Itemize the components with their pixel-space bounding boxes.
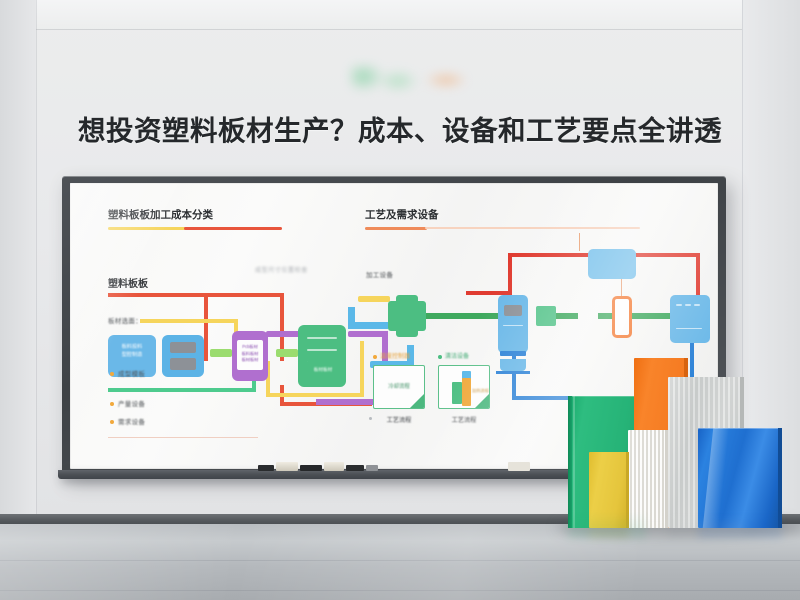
bullet-dot-icon: [110, 420, 114, 424]
chip-lower: [170, 358, 196, 370]
right-heading-bar-orange: [365, 227, 427, 230]
card-1-caption-dot-icon: [369, 417, 372, 420]
reflection-yellow: [589, 518, 629, 538]
eraser-2: [324, 462, 344, 471]
connector-red-bridge: [204, 293, 284, 297]
connector-green-h-1: [425, 313, 509, 319]
bullet-label: 产量设备: [118, 398, 145, 408]
eraser-1: [276, 462, 298, 471]
node-purple-panel: Pcb板材板料板材板材板材: [232, 331, 268, 381]
panel-tick-2: [685, 304, 691, 306]
purple-inner-panel: Pcb板材板料板材板材板材: [237, 340, 263, 370]
connector-feed-yellow: [358, 296, 390, 302]
connector-red-down-1: [204, 293, 208, 361]
right-section-heading: 工艺及需求设备: [365, 207, 439, 222]
node-blue-panel: [670, 295, 710, 343]
connector-orange-thin-top: [579, 233, 580, 251]
marker-black-1: [258, 465, 274, 471]
connector-green-chip-1: [210, 349, 232, 357]
node-blue-chips: [162, 335, 204, 377]
bullet-dot-icon: [110, 372, 114, 376]
reflection-white: [628, 518, 668, 538]
eraser-3: [508, 462, 530, 471]
node-machine-base-1: [500, 351, 526, 356]
node-blue-text-label: 板料投料型腔制造: [108, 344, 156, 360]
marker-black-3: [346, 465, 364, 471]
input-label: 板材选面：: [108, 315, 142, 325]
reflection-blue: [698, 512, 782, 538]
mini-bar-green: [452, 382, 462, 404]
connector-inlet-h: [348, 322, 388, 329]
sheet-green-edge: [568, 396, 572, 528]
faded-watermark: [340, 56, 472, 100]
panel-tick-3: [694, 304, 700, 306]
wall-seam-left: [36, 0, 37, 520]
left-wall: [0, 0, 36, 520]
connector-green-bottom: [108, 388, 256, 392]
bullet-label: 成型模板: [118, 368, 145, 378]
connector-yellow-top: [140, 319, 238, 323]
green-line-2: [307, 349, 337, 351]
connector-red-v-left: [508, 253, 512, 295]
node-yellow-green: 板材板材: [306, 359, 340, 383]
legend-dot-icon: [438, 355, 442, 359]
card-1: 冷却流程: [373, 365, 425, 409]
left-bottom-rule: [108, 437, 258, 438]
green-line-1: [307, 337, 337, 339]
machine-line: [503, 325, 523, 326]
node-blue-top: [588, 249, 636, 279]
panel-tick-1: [676, 304, 682, 306]
left-heading-bar-yellow: [108, 227, 186, 230]
chip-upper: [170, 342, 196, 353]
legend-label: 温度控制器: [380, 351, 410, 360]
ceiling-band: [0, 0, 800, 30]
left-section-heading: 塑料板板加工成本分类: [108, 207, 213, 222]
ceiling-seam: [0, 29, 800, 30]
node-blue-machine: [498, 295, 528, 353]
bullet-label: 需求设备: [118, 416, 145, 426]
marker-gray: [366, 465, 378, 471]
node-green-cross-v: [396, 295, 418, 337]
bullet-dot-icon: [110, 402, 114, 406]
connector-yellow-l2: [266, 393, 364, 397]
flow-label: 加工设备: [366, 269, 393, 279]
connector-red-top: [108, 293, 208, 297]
node-yellow-green-label: 板材板材: [306, 367, 340, 374]
card-2: 加热流程: [438, 365, 490, 409]
card-1-caption: 工艺流程: [373, 415, 425, 424]
purple-inner-text: Pcb板材板料板材板材板材: [239, 344, 261, 364]
marker-black-2: [300, 465, 322, 471]
connector-green-chip-2: [276, 349, 298, 357]
mini-bar-orange: [462, 378, 471, 406]
legend-dot-icon: [373, 355, 377, 359]
card-2-caption: 工艺流程: [438, 415, 490, 424]
right-heading-bar-light: [425, 227, 640, 229]
photo-scene: 想投资塑料板材生产？成本、设备和工艺要点全讲透 塑料板板加工成本分类 成型尺寸位…: [0, 0, 800, 600]
page-title: 想投资塑料板材生产？成本、设备和工艺要点全讲透: [0, 108, 800, 148]
node-green-square: [536, 306, 556, 326]
left-heading-bar-red: [184, 227, 282, 230]
card-1-body: 冷却流程: [374, 382, 424, 390]
node-orange-outline: [612, 296, 632, 338]
connector-red-h-left: [508, 253, 590, 257]
node-machine-base-2: [500, 359, 526, 371]
connector-yellow-l3: [360, 341, 364, 395]
legend-label: 清洁设备: [445, 351, 469, 360]
card-corner-icon: [410, 394, 424, 408]
node-machine-foot: [496, 371, 530, 374]
left-sub-heading: 塑料板板: [108, 275, 148, 290]
panel-line: [676, 328, 702, 329]
corner-note: 成型尺寸位置检查: [255, 265, 308, 274]
card-corner-icon: [475, 394, 489, 408]
machine-display: [504, 305, 522, 316]
